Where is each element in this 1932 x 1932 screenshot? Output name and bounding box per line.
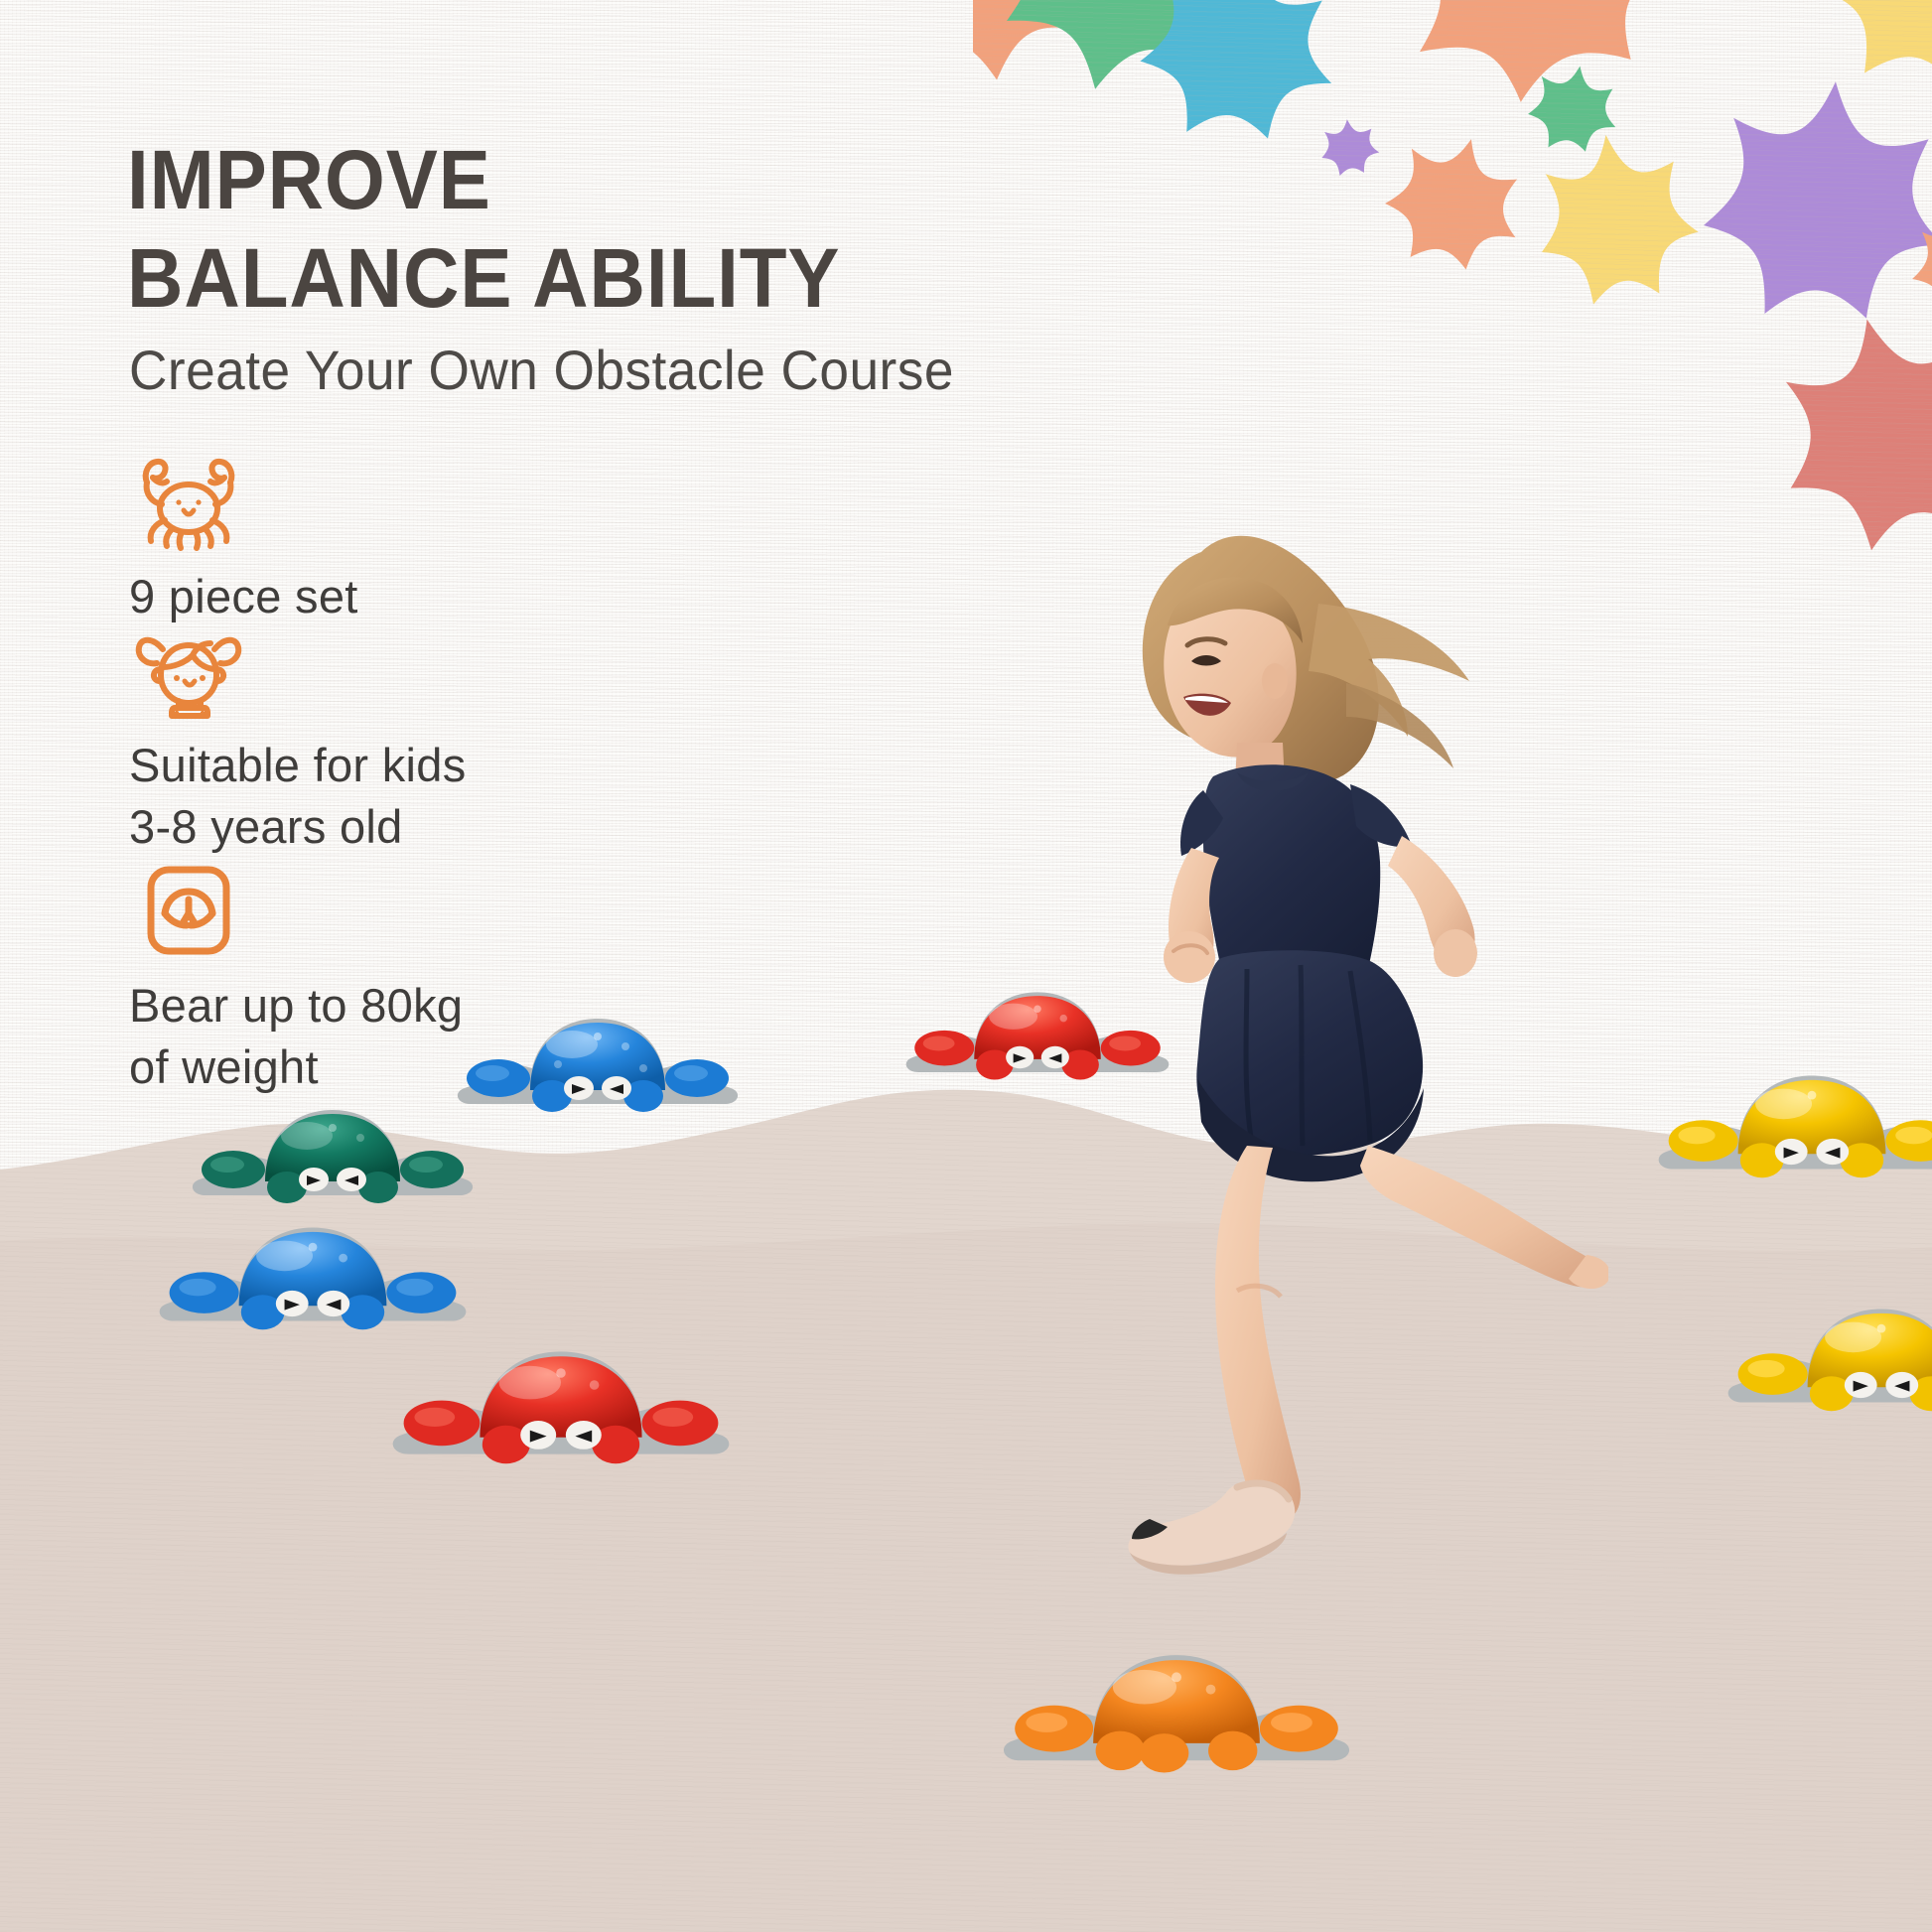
star-purple-tiny: [1318, 116, 1382, 178]
feature-text-age-range: Suitable for kids 3-8 years old: [129, 735, 764, 858]
page-subtitle: Create Your Own Obstacle Course: [129, 338, 1167, 402]
crab-stone-blue-lower: [149, 1199, 477, 1338]
star-peach-mid: [1374, 122, 1536, 280]
girl-running-photo: [1052, 486, 1608, 1668]
star-yellow-mid: [1527, 124, 1707, 311]
crab-stone-green: [184, 1084, 482, 1211]
crab-stone-yellow-upper: [1648, 1047, 1932, 1186]
feature-item-piece-count: 9 piece set: [129, 447, 764, 627]
headline-line-2: BALANCE ABILITY: [127, 229, 1050, 328]
crab-stone-yellow-lower: [1718, 1281, 1932, 1420]
girl-face-icon: [129, 616, 248, 723]
crab-icon: [129, 447, 248, 554]
crab-stone-blue-upper: [449, 993, 747, 1120]
star-coral-lower: [1755, 292, 1932, 566]
feature-line-1: Suitable for kids: [129, 735, 764, 796]
star-purple-large: [1698, 73, 1932, 326]
feature-item-age-range: Suitable for kids 3-8 years old: [129, 616, 764, 858]
weight-scale-icon: [129, 856, 248, 963]
crab-stone-red-lower: [382, 1320, 740, 1473]
star-yellow-top-right: [1804, 0, 1932, 101]
feature-line-2: 3-8 years old: [129, 796, 764, 858]
page-title: IMPROVE BALANCE ABILITY: [127, 131, 1050, 328]
product-marketing-banner: IMPROVE BALANCE ABILITY Create Your Own …: [0, 0, 1932, 1932]
headline-line-1: IMPROVE: [127, 131, 1050, 229]
